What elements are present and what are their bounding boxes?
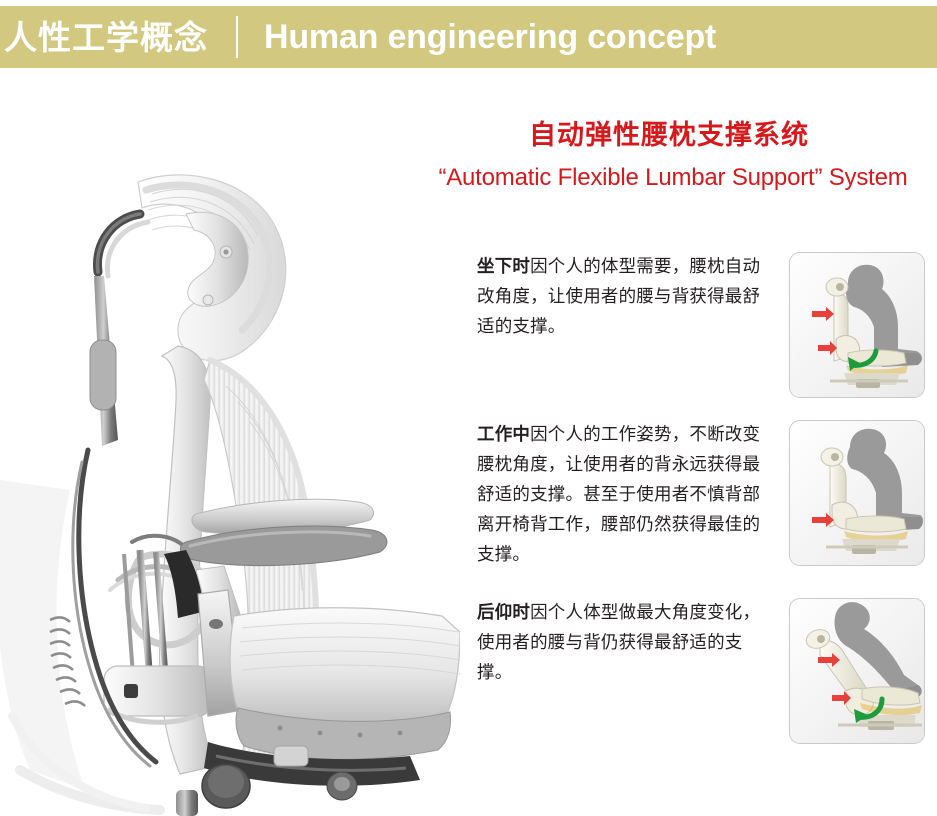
section-title-english: “Automatic Flexible Lumbar Support” Syst…	[415, 163, 937, 193]
feature-description: 后仰时因个人体型做最大角度变化，使用者的腰与背仍获得最舒适的支撑。	[477, 598, 773, 688]
page-header-band: 人性工学概念 Human engineering concept	[0, 6, 937, 68]
section-title-chinese: 自动弹性腰枕支撑系统	[415, 120, 937, 152]
feature-row: 后仰时因个人体型做最大角度变化，使用者的腰与背仍获得最舒适的支撑。	[0, 598, 937, 744]
feature-description: 工作中因个人的工作姿势，不断改变腰枕角度，让使用者的背永远获得最舒适的支撑。甚至…	[477, 420, 773, 570]
header-divider	[236, 16, 238, 58]
header-title-chinese: 人性工学概念	[4, 21, 208, 54]
working-forward-diagram	[789, 420, 925, 566]
feature-body-text: 因个人的工作姿势，不断改变腰枕角度，让使用者的背永远获得最舒适的支撑。甚至于使用…	[477, 425, 760, 565]
feature-row: 工作中因个人的工作姿势，不断改变腰枕角度，让使用者的背永远获得最舒适的支撑。甚至…	[0, 420, 937, 570]
seated-upright-icon	[790, 253, 924, 397]
feature-lead-label: 后仰时	[477, 603, 530, 623]
reclined-diagram	[789, 598, 925, 744]
working-forward-icon	[790, 421, 924, 565]
seated-upright-diagram	[789, 252, 925, 398]
header-title-english: Human engineering concept	[264, 20, 716, 54]
feature-lead-label: 工作中	[477, 425, 530, 445]
feature-row: 坐下时因个人的体型需要，腰枕自动改角度，让使用者的腰与背获得最舒适的支撑。	[0, 252, 937, 398]
section-heading-block: 自动弹性腰枕支撑系统 “Automatic Flexible Lumbar Su…	[415, 120, 937, 193]
feature-description: 坐下时因个人的体型需要，腰枕自动改角度，让使用者的腰与背获得最舒适的支撑。	[477, 252, 773, 342]
reclined-icon	[790, 599, 924, 743]
feature-lead-label: 坐下时	[477, 257, 530, 277]
